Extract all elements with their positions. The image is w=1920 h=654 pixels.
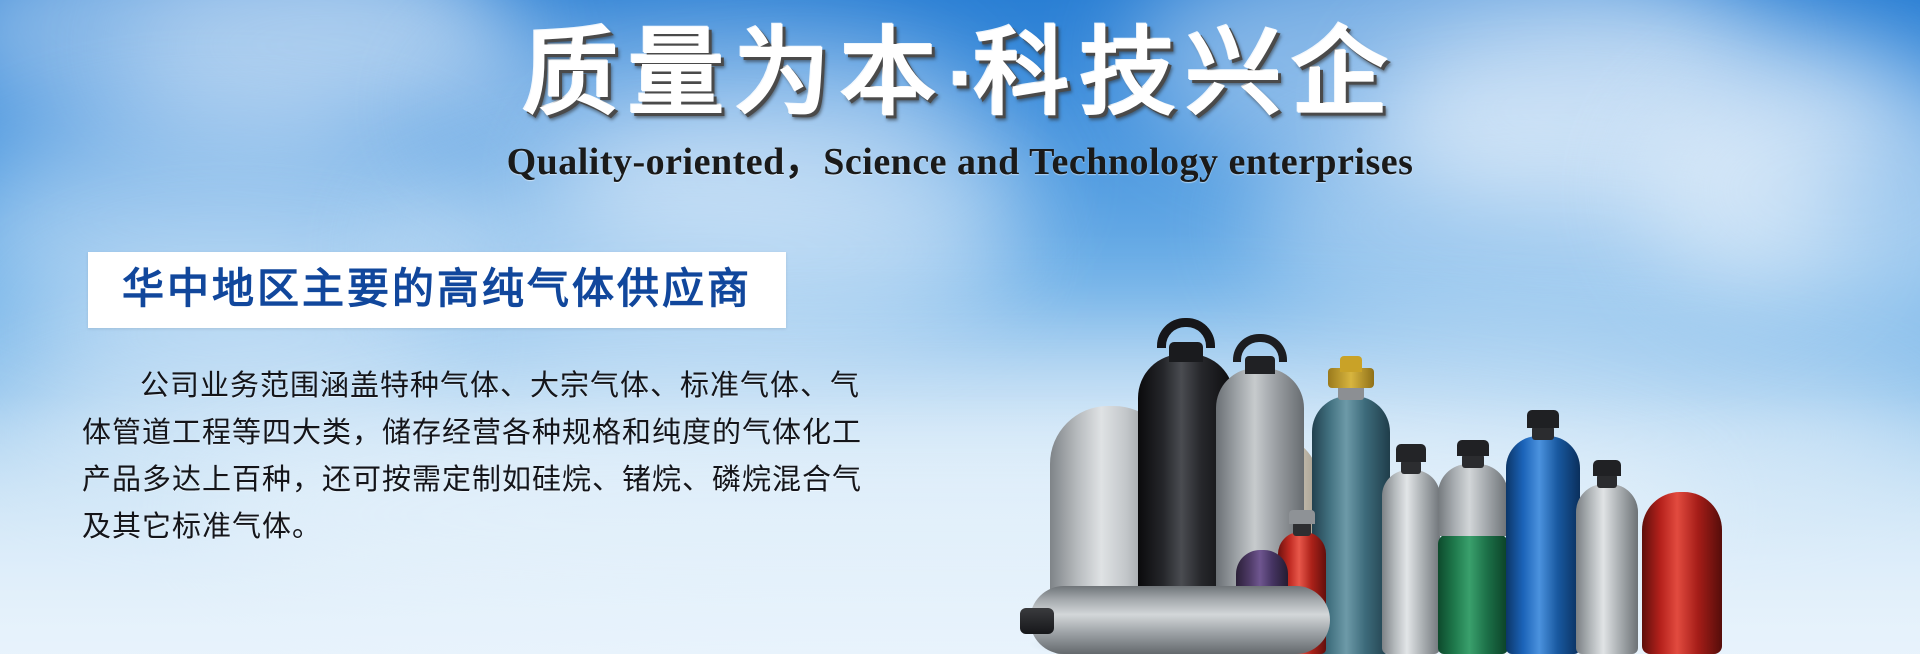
headline-area: 质量为本·科技兴企 — [0, 18, 1920, 129]
cylinder-body — [1506, 436, 1580, 654]
headline-separator-dot: · — [946, 37, 973, 121]
cylinder-cap — [1396, 444, 1426, 462]
gas-cylinder-group — [1020, 234, 1920, 654]
cylinder-cap — [1593, 460, 1621, 476]
headline-part-two: 科技兴企 — [974, 17, 1398, 129]
cylinder-neck — [1462, 454, 1484, 468]
cylinder-upper-body — [1438, 464, 1508, 536]
company-description: 公司业务范围涵盖特种气体、大宗气体、标准气体、气体管道工程等四大类，储存经营各种… — [0, 362, 1060, 550]
cylinder-valve-knob — [1340, 356, 1362, 372]
headline-subtitle-english: Quality-oriented，Science and Technology … — [0, 130, 1920, 185]
cylinder-body — [1030, 586, 1330, 654]
cylinder-neck — [1401, 460, 1421, 474]
promo-banner: 质量为本·科技兴企 Quality-oriented，Science and T… — [0, 0, 1920, 654]
cylinder-green-base — [1438, 440, 1508, 654]
cylinder-handle — [1233, 334, 1287, 362]
cylinder-body — [1382, 470, 1440, 654]
left-content-block: 华中地区主要的高纯气体供应商 公司业务范围涵盖特种气体、大宗气体、标准气体、气体… — [0, 252, 1060, 550]
cylinder-horizontal-grey — [1030, 578, 1330, 654]
cylinder-cap — [1457, 440, 1489, 456]
cylinder-body — [1438, 534, 1508, 654]
headline-part-one: 质量为本 — [522, 17, 946, 129]
cylinder-red-large — [1642, 492, 1722, 654]
cylinder-neck — [1293, 522, 1311, 536]
cylinder-aluminium — [1576, 458, 1638, 654]
highlight-banner-text: 华中地区主要的高纯气体供应商 — [122, 266, 752, 312]
highlight-banner-box: 华中地区主要的高纯气体供应商 — [88, 252, 786, 328]
cylinder-valve — [1020, 608, 1054, 634]
cylinder-aluminium — [1382, 442, 1440, 654]
cylinder-neck — [1532, 426, 1554, 440]
cylinder-cap — [1289, 510, 1315, 524]
cylinder-neck — [1597, 474, 1617, 488]
cylinder-cap — [1527, 410, 1559, 428]
cylinder-body — [1642, 492, 1722, 654]
cylinder-blue-steel — [1506, 406, 1580, 654]
cylinder-body — [1576, 484, 1638, 654]
headline-slogan: 质量为本·科技兴企 — [522, 18, 1397, 129]
cylinder-handle — [1157, 318, 1215, 348]
company-description-paragraph: 公司业务范围涵盖特种气体、大宗气体、标准气体、气体管道工程等四大类，储存经营各种… — [82, 362, 880, 550]
